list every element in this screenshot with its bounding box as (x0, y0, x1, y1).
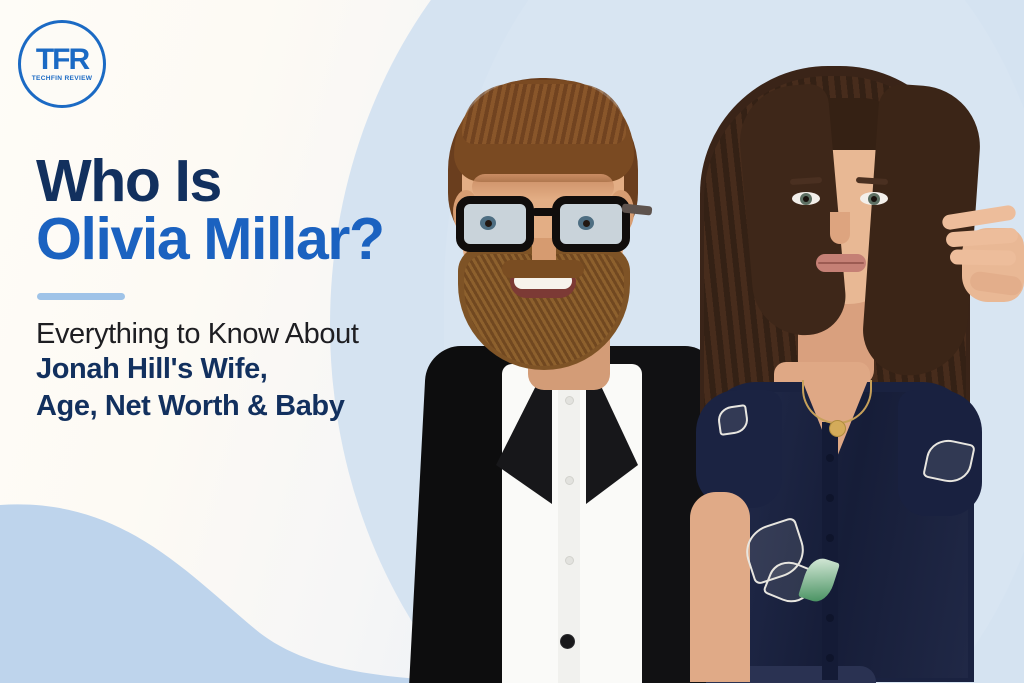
woman-finger (941, 204, 1016, 230)
glasses-bridge (532, 208, 558, 216)
man-shirt-button (565, 476, 574, 485)
article-hero-banner: TFR TECHFIN REVIEW Who Is Olivia Millar?… (0, 0, 1024, 683)
woman-dress-button (826, 654, 834, 662)
woman-dress-button (826, 534, 834, 542)
woman-dress-button (826, 494, 834, 502)
man-shirt-button (565, 556, 574, 565)
subtitle-block: Everything to Know About Jonah Hill's Wi… (36, 318, 506, 426)
subtitle-line-2: Jonah Hill's Wife, (36, 351, 506, 388)
woman-lip-line (818, 262, 864, 264)
title-line-1: Who Is (36, 152, 506, 210)
woman-nose (830, 212, 850, 244)
woman-pupil-left (803, 196, 809, 202)
necklace-coin-pendant-icon (829, 420, 846, 437)
woman-arm-left (690, 492, 750, 682)
page-title: Who Is Olivia Millar? (36, 152, 506, 269)
man-jacket-button (560, 634, 575, 649)
photo-woman-olivia-millar (690, 62, 1024, 683)
woman-finger (950, 249, 1016, 265)
woman-dress-button (826, 454, 834, 462)
accent-divider (37, 293, 125, 300)
woman-pupil-right (871, 196, 877, 202)
woman-raised-hand (936, 188, 1024, 304)
man-moustache (502, 260, 584, 278)
man-hair-texture (462, 84, 626, 144)
woman-dress-button (826, 614, 834, 622)
man-shirt-button (565, 396, 574, 405)
subtitle-line-3: Age, Net Worth & Baby (36, 388, 506, 425)
headline-block: Who Is Olivia Millar? Everything to Know… (36, 152, 506, 425)
subtitle-line-1: Everything to Know About (36, 318, 506, 351)
man-pupil-right (583, 220, 590, 227)
title-line-2: Olivia Millar? (36, 210, 506, 268)
